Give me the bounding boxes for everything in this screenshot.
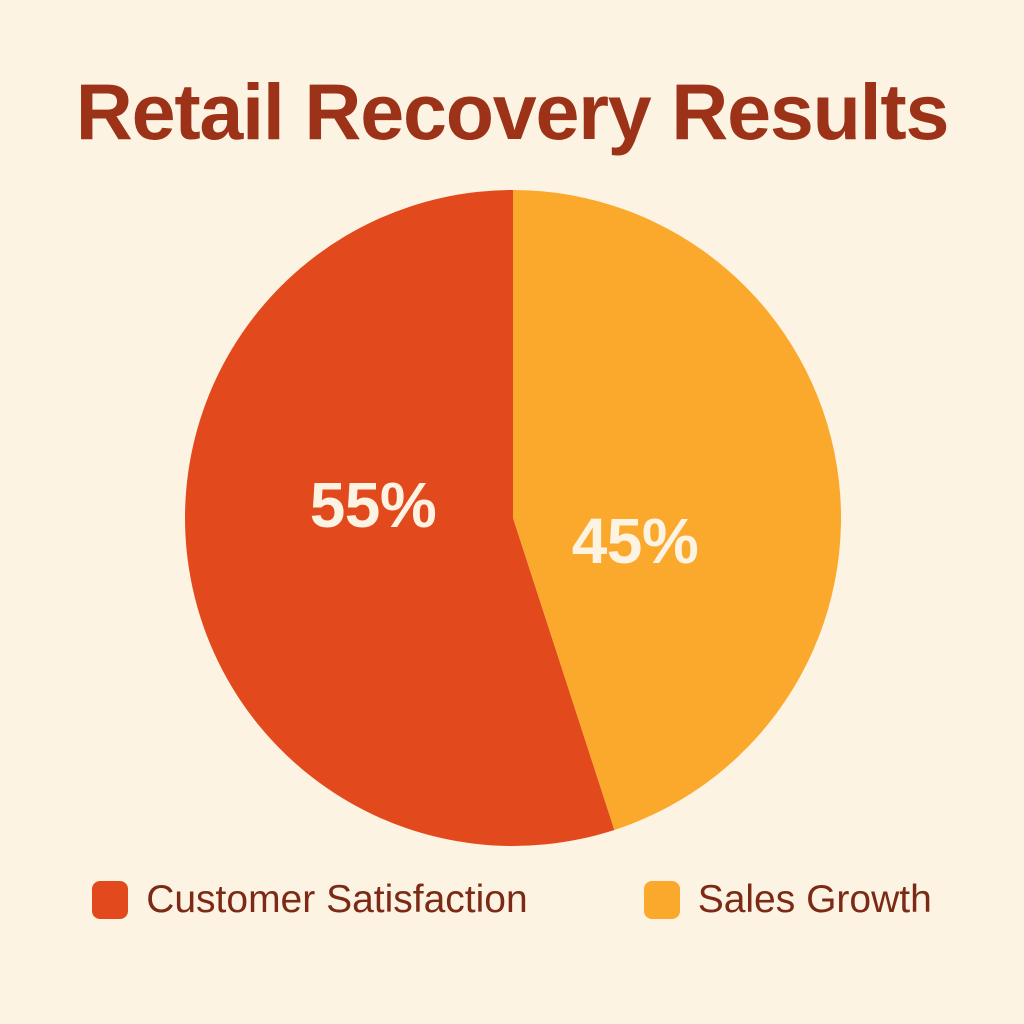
page-title: Retail Recovery Results bbox=[0, 72, 1024, 151]
legend-swatch-icon-customer-satisfaction bbox=[92, 881, 128, 919]
legend-label-sales-growth: Sales Growth bbox=[698, 880, 932, 919]
legend-item-customer-satisfaction[interactable]: Customer Satisfaction bbox=[92, 880, 528, 919]
pie-slice-label-customer-satisfaction: 55% bbox=[310, 469, 437, 541]
pie-svg: 55% 45% bbox=[185, 190, 841, 846]
legend-item-sales-growth[interactable]: Sales Growth bbox=[644, 880, 932, 919]
pie-slice-label-sales-growth: 45% bbox=[572, 505, 699, 577]
legend-swatch-icon-sales-growth bbox=[644, 881, 680, 919]
legend-label-customer-satisfaction: Customer Satisfaction bbox=[146, 880, 528, 919]
legend: Customer Satisfaction Sales Growth bbox=[0, 880, 1024, 919]
pie-chart: 55% 45% bbox=[185, 190, 841, 846]
chart-canvas: Retail Recovery Results 55% 45% Customer… bbox=[0, 0, 1024, 1024]
